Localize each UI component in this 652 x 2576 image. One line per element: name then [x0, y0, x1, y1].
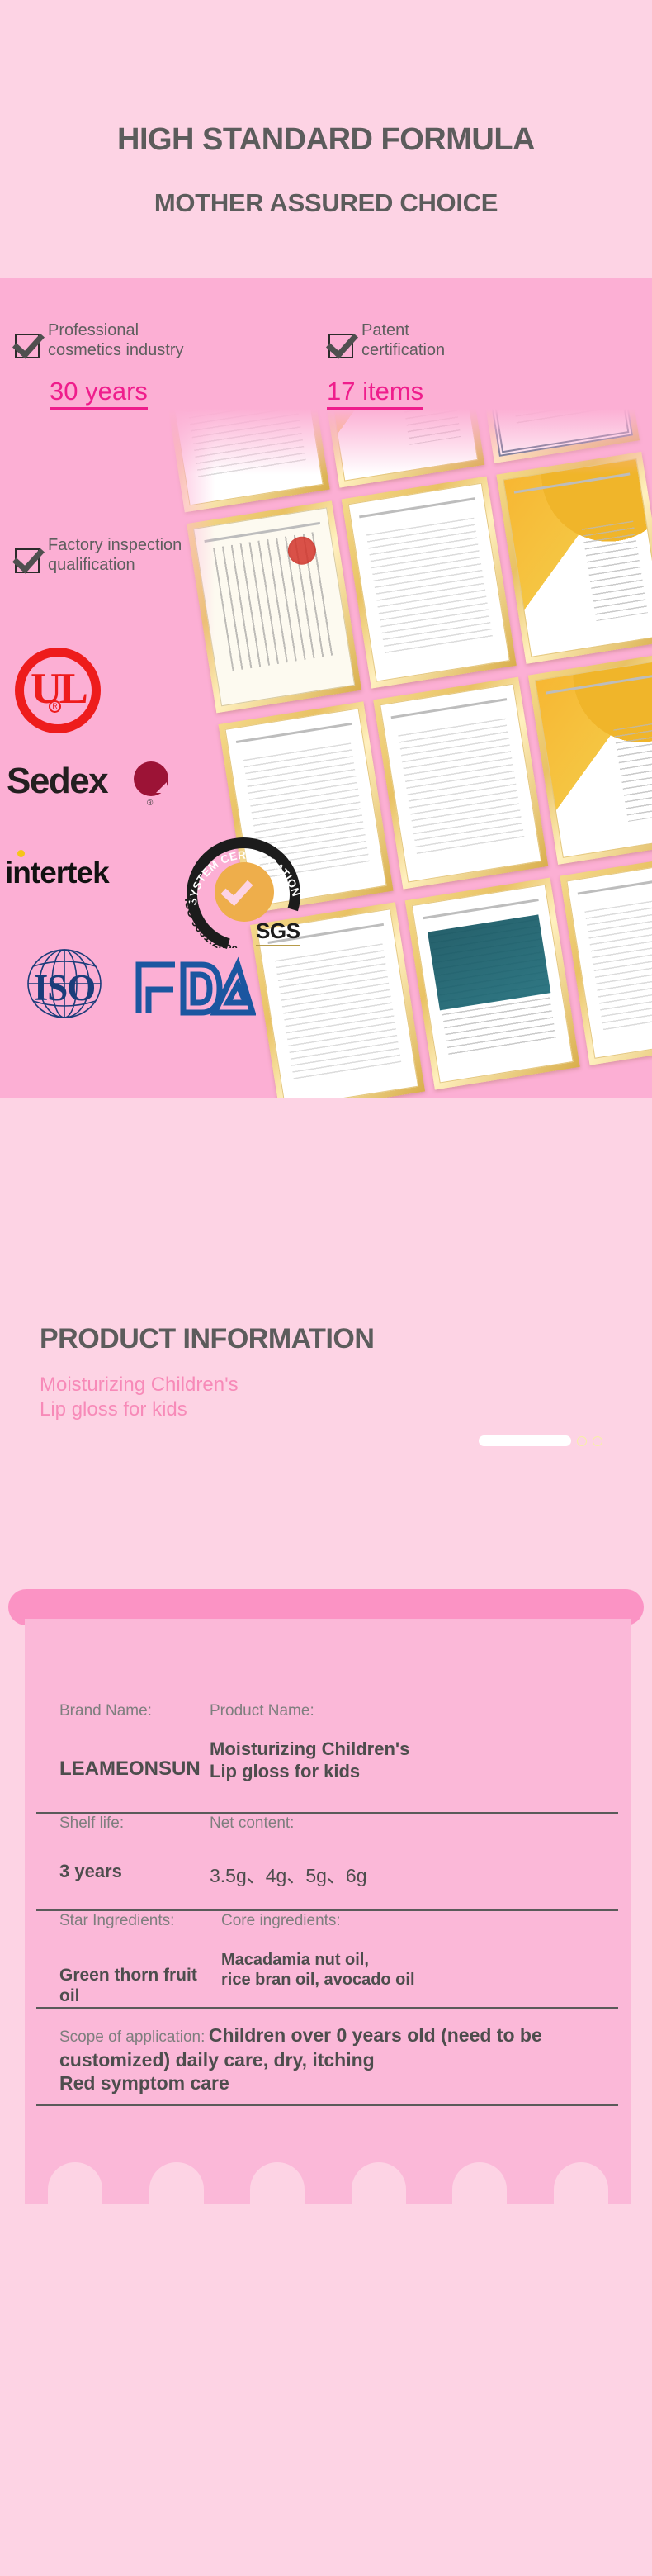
feature-label: Factory inspection qualification: [48, 535, 182, 576]
spec-cell-net-content: Net content: 3.5g、4g、5g、6g: [210, 1814, 598, 1887]
certificate-thumbnail: [528, 652, 652, 865]
iso-logo-text: ISO: [8, 966, 120, 1009]
checkbox-checked-icon: [15, 334, 40, 358]
spec-cell-product-name: Product Name: Moisturizing Children's Li…: [210, 1701, 598, 1782]
spec-label: Product Name:: [210, 1701, 598, 1722]
product-information-section: PRODUCT INFORMATION Moisturizing Childre…: [0, 1098, 652, 1561]
spec-label: Brand Name:: [59, 1701, 210, 1722]
certification-section: Professional cosmetics industry 30 years…: [0, 278, 652, 1098]
feature-professional-cosmetics: Professional cosmetics industry: [15, 320, 287, 361]
scallop-notch: [48, 2162, 102, 2204]
feature-patent-certification: Patent certification: [328, 320, 535, 361]
fda-logo: [132, 951, 256, 1016]
spec-label: Core ingredients:: [221, 1911, 598, 1932]
scallop-notch: [250, 2162, 305, 2204]
section-subtitle: Moisturizing Children's Lip gloss for ki…: [40, 1373, 239, 1422]
product-detail-page: HIGH STANDARD FORMULA MOTHER ASSURED CHO…: [0, 0, 652, 2576]
certificate-thumbnail: [496, 452, 652, 664]
spec-cell-shelf-life: Shelf life: 3 years: [59, 1814, 210, 1883]
intertek-dot-icon: [17, 850, 25, 857]
carousel-pagination[interactable]: [479, 1435, 602, 1446]
certificate-thumbnail: [405, 878, 580, 1090]
sgs-logo: SYSTEM CERTIFICATION ISO 9001:2000 SGS: [180, 833, 310, 948]
spec-value: 3 years: [59, 1861, 210, 1883]
fda-wordmark-icon: [132, 951, 256, 1016]
ul-logo: UL R: [15, 648, 101, 733]
feature-label: Patent certification: [361, 320, 445, 361]
headline-primary: HIGH STANDARD FORMULA: [0, 122, 652, 158]
spec-label: Shelf life:: [59, 1814, 210, 1834]
spec-value: 3.5g、4g、5g、6g: [210, 1864, 598, 1887]
pagination-dot[interactable]: [593, 1436, 602, 1446]
header-band: HIGH STANDARD FORMULA MOTHER ASSURED CHO…: [0, 0, 652, 278]
stat-years: 30 years: [50, 378, 148, 410]
spec-value: Moisturizing Children's Lip gloss for ki…: [210, 1739, 598, 1783]
spec-label: Scope of application:: [59, 2028, 205, 2046]
spec-label: Star Ingredients:: [59, 1911, 221, 1932]
spec-row-shelf-life: Shelf life: 3 years Net content: 3.5g、4g…: [36, 1814, 618, 1911]
intertek-logo-text: intertek: [5, 856, 109, 890]
spec-cell-core-ingredients: Core ingredients: Macadamia nut oil, ric…: [221, 1911, 598, 1990]
registered-mark-icon: R: [49, 700, 61, 713]
sedex-logo-text: Sedex: [7, 761, 107, 802]
feature-label: Professional cosmetics industry: [48, 320, 184, 361]
spec-value: LEAMEONSUN: [59, 1757, 210, 1781]
spec-row-ingredients: Star Ingredients: Green thorn fruit oil …: [36, 1911, 618, 2009]
spec-row-scope: Scope of application: Children over 0 ye…: [36, 2009, 618, 2106]
sedex-mark-icon: [134, 761, 168, 796]
spec-value: Macadamia nut oil, rice bran oil, avocad…: [221, 1950, 598, 1990]
sgs-wordmark: SGS: [256, 918, 300, 946]
product-spec-card: Brand Name: LEAMEONSUN Product Name: Moi…: [25, 1619, 631, 2204]
scallop-notch: [452, 2162, 507, 2204]
certificate-thumbnail: [187, 500, 361, 713]
feature-factory-inspection: Factory inspection qualification: [15, 535, 304, 576]
iso-logo: ISO: [8, 948, 120, 1019]
certificate-thumbnail: [373, 677, 548, 890]
scallop-notch: [554, 2162, 608, 2204]
card-scalloped-edge: [25, 2106, 631, 2204]
spec-label: Net content:: [210, 1814, 598, 1834]
checkbox-checked-icon: [328, 334, 353, 358]
spec-cell-brand-name: Brand Name: LEAMEONSUN: [59, 1701, 210, 1781]
pagination-dot[interactable]: [577, 1436, 587, 1446]
spec-value: Green thorn fruit oil: [59, 1965, 221, 2007]
headline-secondary: MOTHER ASSURED CHOICE: [0, 188, 652, 218]
certificate-thumbnail: [465, 278, 640, 463]
section-title: PRODUCT INFORMATION: [40, 1323, 374, 1355]
sedex-registered-mark: ®: [147, 799, 153, 808]
spec-row-brand: Brand Name: LEAMEONSUN Product Name: Moi…: [36, 1698, 618, 1814]
scallop-notch: [149, 2162, 204, 2204]
checkbox-checked-icon: [15, 548, 40, 573]
certificate-thumbnail: [342, 477, 517, 689]
stat-patent-items: 17 items: [327, 378, 423, 410]
pagination-active-bar[interactable]: [479, 1435, 571, 1446]
spec-cell-star-ingredients: Star Ingredients: Green thorn fruit oil: [59, 1911, 221, 2007]
scallop-notch: [352, 2162, 406, 2204]
